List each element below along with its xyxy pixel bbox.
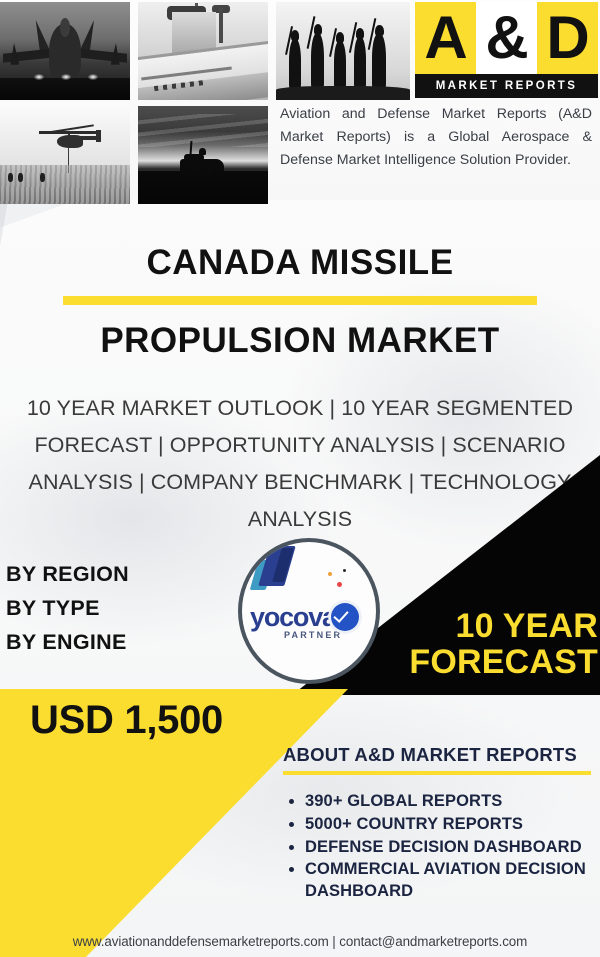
logo-letter-d: D [537,2,598,74]
verified-seal-icon [326,598,364,636]
company-intro-paragraph: Aviation and Defense Market Reports (A&D… [280,103,592,172]
forecast-line-1: 10 YEAR [398,608,598,644]
about-bullet-list: 390+ GLOBAL REPORTS 5000+ COUNTRY REPORT… [305,791,593,903]
facet-by-region: BY REGION [6,558,129,592]
price-label: USD 1,500 [30,698,223,743]
report-title: CANADA MISSILE PROPULSION MARKET [0,243,600,360]
list-item: 5000+ COUNTRY REPORTS [305,814,593,836]
logo-letter-a: A [415,2,476,74]
about-heading: ABOUT A&D MARKET REPORTS [283,744,593,766]
about-section: ABOUT A&D MARKET REPORTS 390+ GLOBAL REP… [283,744,593,904]
poster-root: A & D MARKET REPORTS Aviation and Defens… [0,0,600,957]
footer-contact: www.aviationanddefensemarketreports.com … [0,934,600,949]
soldiers-photo [276,2,410,100]
logo-tagline: MARKET REPORTS [415,74,598,98]
list-item: 390+ GLOBAL REPORTS [305,791,593,813]
forecast-line-2: FORECAST [398,644,598,680]
logo-ampersand: & [476,2,537,74]
badge-dot-dark-icon [343,569,346,572]
report-title-line-1: CANADA MISSILE [0,243,600,282]
forecast-callout: 10 YEAR FORECAST [398,608,598,681]
yocova-partner-badge: yocova PARTNER [238,538,380,684]
about-heading-underline [283,771,591,775]
report-scope-subtitle: 10 YEAR MARKET OUTLOOK | 10 YEAR SEGMENT… [16,390,584,538]
segmentation-list: BY REGION BY TYPE BY ENGINE [6,558,129,659]
report-title-line-2: PROPULSION MARKET [0,321,600,360]
title-divider [63,296,537,305]
facet-by-type: BY TYPE [6,592,129,626]
list-item: COMMERCIAL AVIATION DECISION DASHBOARD [305,859,593,903]
naval-ship-photo [138,2,268,100]
ad-market-reports-logo: A & D MARKET REPORTS [415,2,598,98]
fighter-jet-photo [0,2,130,100]
list-item: DEFENSE DECISION DASHBOARD [305,837,593,859]
helicopter-photo [0,106,130,204]
badge-dot-red-icon [337,582,342,587]
logo-letters: A & D [415,2,598,74]
armoured-vehicle-photo [138,106,268,204]
facet-by-engine: BY ENGINE [6,626,129,660]
badge-dot-orange-icon [328,572,332,576]
